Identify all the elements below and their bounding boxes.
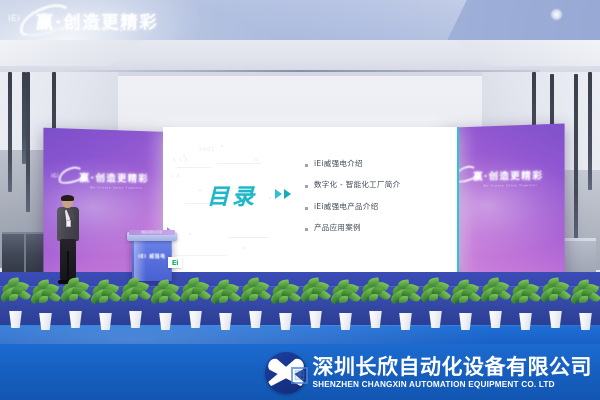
potted-plant (570, 280, 600, 330)
flower-pot (398, 313, 413, 330)
potted-plant (0, 278, 30, 328)
iei-mark: iEi (8, 13, 21, 23)
potted-plant (510, 280, 540, 330)
banner-subtitle: We Create Value Together (60, 27, 139, 32)
pillar-strip (574, 74, 578, 244)
bullet-text: iEi威强电介绍 (314, 159, 363, 168)
slide-decoration-text: 2401 (199, 147, 215, 153)
potted-plant (450, 280, 480, 330)
list-item: 产品应用案例 (305, 223, 453, 232)
podium-logo: iEi 威强电 (138, 253, 166, 260)
potted-plant (240, 278, 270, 328)
top-banner: iEi 赢·创造更精彩 We Create Value Together (0, 0, 600, 40)
leaf (399, 296, 408, 303)
leaf (519, 296, 528, 303)
potted-plant (480, 278, 510, 328)
pillar-strip (8, 72, 12, 192)
company-logo: 深圳长欣自动化设备有限公司 SHENZHEN CHANGXIN AUTOMATI… (265, 352, 593, 394)
potted-plant (270, 280, 300, 330)
leaf (279, 296, 288, 303)
flower-pot (8, 311, 23, 328)
company-name-en: SHENZHEN CHANGXIN AUTOMATION EQUIPMENT C… (313, 381, 593, 389)
potted-plant (390, 280, 420, 330)
potted-plant (330, 280, 360, 330)
flower-pot (98, 313, 113, 330)
watermark-char: 图 (293, 369, 306, 382)
flower-pot (518, 313, 533, 330)
flower-pot (428, 311, 443, 328)
list-item: iEi威强电介绍 (305, 159, 453, 168)
bullet-marker (305, 185, 308, 188)
flower-pot (188, 311, 203, 328)
bullet-marker (305, 207, 308, 210)
panel-logo-left: iEi 赢·创造更精彩 We Create Value Together (49, 170, 163, 190)
flower-pot (278, 313, 293, 330)
speaker-person (55, 196, 81, 282)
iei-sign: Ei (168, 257, 182, 268)
leaf (39, 296, 48, 303)
company-name-cn: 深圳长欣自动化设备有限公司 (313, 357, 593, 378)
iei-sign-text: Ei (172, 259, 179, 267)
pillar-strip (22, 72, 26, 164)
potted-plant (210, 280, 240, 330)
leaf (219, 296, 228, 303)
leaf (339, 296, 348, 303)
leaf (489, 294, 498, 301)
flower-pot (38, 313, 53, 330)
potted-plant (90, 280, 120, 330)
slide-bullet-list: iEi威强电介绍 数字化 - 智能化工厂简介 iEi威强电产品介绍 产品应用案例 (305, 159, 453, 245)
speaker-badge (66, 220, 71, 227)
panel-title: 赢·创造更精彩 (49, 170, 163, 185)
leaf (309, 294, 318, 301)
flower-pot (548, 311, 563, 328)
flower-pot (458, 313, 473, 330)
slide-title: 目录 (207, 179, 257, 211)
flower-pot (488, 311, 503, 328)
bullet-text: 数字化 - 智能化工厂简介 (314, 180, 400, 189)
leaf (69, 294, 78, 301)
bullet-marker (305, 228, 308, 231)
panel-title: 赢·创造更精彩 (445, 168, 559, 183)
panel-subtitle: We Create Value Together (49, 185, 163, 190)
bullet-marker (305, 164, 308, 167)
potted-plant (120, 278, 150, 328)
bullet-text: iEi威强电产品介绍 (314, 202, 378, 211)
potted-plant (60, 278, 90, 328)
projection-screen: 2401 0 1 0 1 0 目录 iEi威强电介绍 数字化 - 智能化工厂简介 (163, 127, 459, 275)
slide-decoration-text: 0 1 0 (173, 157, 188, 162)
slide-decoration-text: 1 0 (171, 173, 180, 178)
flower-pot (68, 311, 83, 328)
bullet-text: 产品应用案例 (314, 223, 361, 232)
double-right-arrow-icon (275, 189, 291, 199)
potted-plant (360, 278, 390, 328)
leaf (99, 296, 108, 303)
podium-banner-text: 精彩演讲分享会 (129, 230, 175, 235)
panel-logo-right: iEi 赢·创造更精彩 We Create Value Together (445, 168, 559, 188)
leaf (129, 294, 138, 301)
leaf (429, 294, 438, 301)
watermark-badge: 图 (291, 367, 308, 384)
conference-photo: iEi 赢·创造更精彩 We Create Value Together iEi… (0, 0, 600, 400)
flower-pot (578, 313, 593, 330)
list-item: iEi威强电产品介绍 (305, 202, 453, 211)
potted-plant (30, 280, 60, 330)
flower-pot (338, 313, 353, 330)
leaf (249, 294, 258, 301)
potted-plant (150, 280, 180, 330)
pillar-strip (26, 72, 30, 212)
leaf (549, 294, 558, 301)
leaf (159, 296, 168, 303)
flower-pot (218, 313, 233, 330)
list-item: 数字化 - 智能化工厂简介 (305, 180, 453, 189)
leaf (459, 296, 468, 303)
podium-banner-strip: 精彩演讲分享会 (129, 230, 175, 235)
potted-plant (540, 278, 570, 328)
podium-highlight (134, 239, 146, 281)
flower-pot (248, 311, 263, 328)
flower-pot (368, 311, 383, 328)
speaker-hair (61, 195, 74, 201)
flower-pot (158, 313, 173, 330)
ceiling-rail (60, 70, 540, 72)
slide: 2401 0 1 0 1 0 目录 iEi威强电介绍 数字化 - 智能化工厂简介 (163, 127, 457, 275)
leaf (189, 294, 198, 301)
light-spot (551, 9, 562, 20)
flower-pot (308, 311, 323, 328)
plant-row (0, 278, 600, 330)
leaf (369, 294, 378, 301)
speaker-legs (60, 239, 76, 280)
pillar-strip (588, 72, 592, 190)
leaf (579, 296, 588, 303)
potted-plant (180, 278, 210, 328)
potted-plant (300, 278, 330, 328)
company-name-block: 深圳长欣自动化设备有限公司 SHENZHEN CHANGXIN AUTOMATI… (313, 357, 593, 389)
flower-pot (128, 311, 143, 328)
podium: iEi 威强电 (132, 239, 172, 281)
potted-plant (420, 278, 450, 328)
leaf (9, 294, 18, 301)
